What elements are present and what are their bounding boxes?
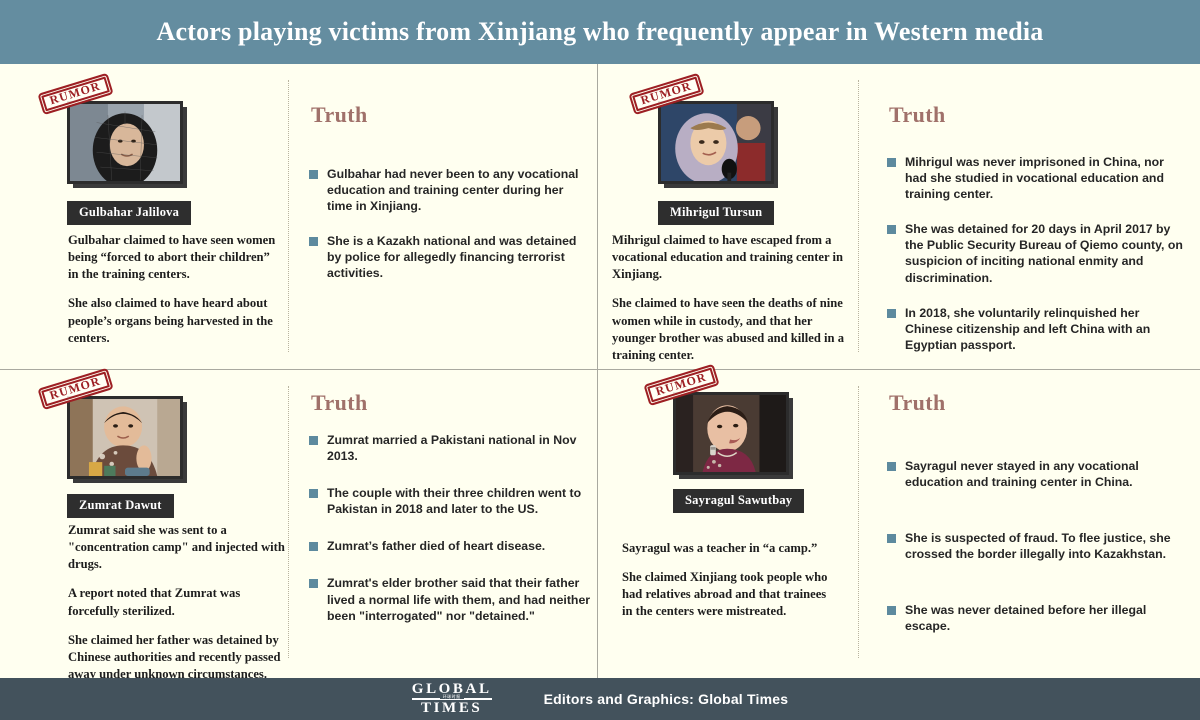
square-bullet-icon [309,542,318,551]
portrait-photo [673,392,789,475]
global-times-logo: GLOBAL 环球时报 TIMES [412,682,492,716]
person-nameplate: Sayragul Sawutbay [673,489,804,513]
rumor-claims: Zumrat said she was sent to a "concentra… [68,522,286,683]
truth-section: Truth Gulbahar had never been to any voc… [289,64,597,369]
truth-text: Gulbahar had never been to any vocationa… [327,166,581,214]
truth-text: In 2018, she voluntarily relinquished he… [905,305,1187,353]
portrait-container: RUMOR [67,396,183,479]
portrait-photo [67,101,183,184]
truth-text: She was detained for 20 days in April 20… [905,221,1187,285]
truth-list-item: Sayragul never stayed in any vocational … [887,458,1175,490]
portrait-container: RUMOR [67,101,183,184]
truth-text: Zumrat married a Pakistani national in N… [327,432,593,464]
truth-list-item: Zumrat married a Pakistani national in N… [309,432,593,464]
truth-text: Zumrat’s father died of heart disease. [327,538,545,554]
claim-text: A report noted that Zumrat was forcefull… [68,585,286,619]
square-bullet-icon [309,170,318,179]
truth-section: Truth Mihrigul was never imprisoned in C… [859,64,1195,369]
case-panel-gulbahar-jalilova: RUMOR Gulbahar Jalilova Gulbahar claimed… [0,64,597,369]
square-bullet-icon [887,606,896,615]
truth-list-item: She was detained for 20 days in April 20… [887,221,1187,285]
truth-text: Sayragul never stayed in any vocational … [905,458,1175,490]
truth-list: Mihrigul was never imprisoned in China, … [887,154,1187,353]
claim-text: She claimed to have seen the deaths of n… [612,295,850,364]
truth-text: The couple with their three children wen… [327,485,593,517]
person-nameplate: Gulbahar Jalilova [67,201,191,225]
truth-section: Truth Sayragul never stayed in any vocat… [859,370,1195,675]
footer-credit: Editors and Graphics: Global Times [544,691,789,707]
truth-list-item: The couple with their three children wen… [309,485,593,517]
truth-list-item: Zumrat's elder brother said that their f… [309,575,593,623]
truth-list-item: She is suspected of fraud. To flee justi… [887,530,1175,562]
claim-text: She claimed Xinjiang took people who had… [622,569,832,620]
person-nameplate: Zumrat Dawut [67,494,174,518]
truth-heading: Truth [311,102,368,128]
claim-text: Mihrigul claimed to have escaped from a … [612,232,850,283]
claim-text: She claimed her father was detained by C… [68,632,286,683]
logo-chinese-name: 环球时报 [440,695,464,699]
truth-text: Mihrigul was never imprisoned in China, … [905,154,1187,202]
portrait-photo [658,101,774,184]
truth-text: She was never detained before her illega… [905,602,1175,634]
page-footer: GLOBAL 环球时报 TIMES Editors and Graphics: … [0,678,1200,720]
truth-list-item: Gulbahar had never been to any vocationa… [309,166,581,214]
person-nameplate: Mihrigul Tursun [658,201,774,225]
case-panel-sayragul-sawutbay: RUMOR Sayragul Sawutbay Sayragul was a t… [598,370,1195,675]
truth-list: Gulbahar had never been to any vocationa… [309,166,581,282]
page-title: Actors playing victims from Xinjiang who… [157,17,1044,47]
footer-content: GLOBAL 环球时报 TIMES Editors and Graphics: … [412,682,788,716]
logo-bottom-word: TIMES [421,701,482,716]
page-header: Actors playing victims from Xinjiang who… [0,0,1200,64]
claim-text: Zumrat said she was sent to a "concentra… [68,522,286,573]
truth-list-item: She was never detained before her illega… [887,602,1175,634]
square-bullet-icon [887,158,896,167]
claim-text: She also claimed to have heard about peo… [68,295,283,346]
case-panel-mihrigul-tursun: RUMOR Mihrigul Tursun Mihrigul claimed t… [598,64,1195,369]
truth-section: Truth Zumrat married a Pakistani nationa… [289,370,597,675]
rumor-claims: Sayragul was a teacher in “a camp.” She … [622,540,832,621]
square-bullet-icon [309,489,318,498]
truth-list-item: In 2018, she voluntarily relinquished he… [887,305,1187,353]
truth-list: Zumrat married a Pakistani national in N… [309,432,593,624]
portrait-container: RUMOR [658,101,774,184]
truth-heading: Truth [889,390,946,416]
infographic-board: RUMOR Gulbahar Jalilova Gulbahar claimed… [0,64,1200,678]
rumor-claims: Gulbahar claimed to have seen women bein… [68,232,283,347]
truth-list-item: Mihrigul was never imprisoned in China, … [887,154,1187,202]
truth-list-item: Zumrat’s father died of heart disease. [309,538,593,554]
portrait-container: RUMOR [673,392,789,475]
truth-heading: Truth [889,102,946,128]
claim-text: Gulbahar claimed to have seen women bein… [68,232,283,283]
case-panel-zumrat-dawut: RUMOR Zumrat Dawut Zumrat said she was s… [0,370,597,675]
claim-text: Sayragul was a teacher in “a camp.” [622,540,832,557]
rumor-claims: Mihrigul claimed to have escaped from a … [612,232,850,364]
logo-rule: 环球时报 [412,698,492,700]
truth-list: Sayragul never stayed in any vocational … [887,458,1175,635]
truth-heading: Truth [311,390,368,416]
portrait-photo [67,396,183,479]
truth-list-item: She is a Kazakh national and was detaine… [309,233,581,281]
truth-text: She is a Kazakh national and was detaine… [327,233,581,281]
truth-text: She is suspected of fraud. To flee justi… [905,530,1175,562]
square-bullet-icon [309,579,318,588]
truth-text: Zumrat's elder brother said that their f… [327,575,593,623]
square-bullet-icon [309,436,318,445]
square-bullet-icon [887,534,896,543]
square-bullet-icon [887,462,896,471]
square-bullet-icon [887,309,896,318]
square-bullet-icon [309,237,318,246]
square-bullet-icon [887,225,896,234]
